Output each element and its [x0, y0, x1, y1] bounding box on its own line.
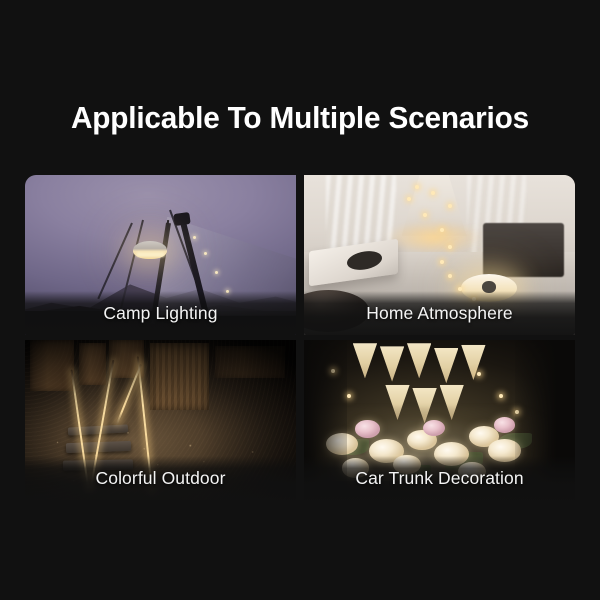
banner-letter — [407, 343, 431, 378]
page-title: Applicable To Multiple Scenarios — [12, 100, 588, 136]
car-trunk-decoration-image — [304, 340, 575, 500]
flower — [423, 420, 445, 436]
trunk-edge-left — [304, 340, 347, 500]
flower — [393, 455, 420, 474]
product-feature-poster: Applicable To Multiple Scenarios — [0, 0, 600, 600]
fairy-light — [440, 260, 444, 264]
camping-lamp-icon — [133, 241, 167, 259]
banner-letter — [461, 345, 485, 380]
fairy-light — [347, 394, 351, 398]
vignette — [25, 340, 296, 500]
lamp-glow — [385, 220, 483, 255]
fairy-light — [448, 204, 452, 208]
flower — [458, 462, 485, 481]
scenario-grid: Camp Lighting — [25, 175, 575, 500]
fairy-light — [440, 228, 444, 232]
camp-lighting-image — [25, 175, 296, 335]
fairy-light — [499, 394, 503, 398]
light-spark — [215, 271, 218, 274]
scenario-tile-colorful-outdoor[interactable]: Colorful Outdoor — [25, 340, 296, 500]
fairy-light — [477, 372, 481, 376]
dark-desk-objects — [483, 223, 564, 277]
home-atmosphere-image — [304, 175, 575, 335]
flower — [494, 417, 516, 433]
banner-letter — [434, 348, 458, 383]
fairy-light — [472, 297, 476, 301]
scenario-tile-home-atmosphere[interactable]: Home Atmosphere — [304, 175, 575, 335]
fairy-light — [415, 185, 419, 189]
banner-letter — [380, 346, 404, 381]
trunk-edge-right — [515, 340, 575, 500]
colorful-outdoor-image — [25, 340, 296, 500]
scenario-tile-car-trunk-decoration[interactable]: Car Trunk Decoration — [304, 340, 575, 500]
light-spark — [204, 252, 207, 255]
flower — [355, 420, 379, 438]
trunk-lip — [304, 481, 575, 500]
light-spark — [193, 236, 196, 239]
banner-letter — [353, 343, 377, 378]
light-spark — [226, 290, 229, 293]
fairy-light — [448, 274, 452, 278]
scenario-tile-camp-lighting[interactable]: Camp Lighting — [25, 175, 296, 335]
